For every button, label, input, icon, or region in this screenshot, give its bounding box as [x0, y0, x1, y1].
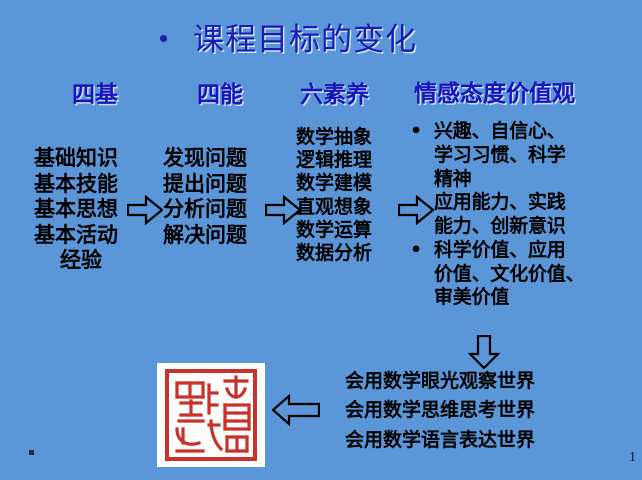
column-4-content: • 兴趣、自信心、 学习习惯、科学 精神 应用能力、实践 能力、创新意识 • 科… [410, 120, 636, 310]
conclusion-text: 会用数学眼光观察世界 会用数学思维思考世界 会用数学语言表达世界 [345, 367, 535, 455]
bullet-icon: • [410, 239, 434, 263]
corner-mark [29, 450, 34, 455]
list-item-line: 兴趣、自信心、 [434, 120, 566, 142]
list-item: 基本活动 [34, 223, 118, 249]
list-item: 数学建模 [296, 172, 372, 195]
list-item: 数据分析 [296, 242, 372, 265]
list-item-line: 应用能力、实践 [434, 191, 566, 213]
arrow-down-icon [468, 335, 500, 369]
column-header-2: 四能 [197, 75, 243, 109]
list-item-line: 精神 [434, 168, 472, 190]
list-item-text: 科学价值、应用 价值、文化价值、 审美价值 [434, 239, 636, 310]
column-header-1: 四基 [72, 75, 118, 109]
bullet-icon: • [410, 120, 434, 144]
list-item-line: 学习习惯、科学 [434, 144, 566, 166]
list-item: 发现问题 [163, 146, 247, 172]
list-item: 数学抽象 [296, 126, 372, 149]
column-3-content: 数学抽象 逻辑推理 数学建模 直观想象 数学运算 数据分析 [296, 126, 372, 265]
list-item-text: 兴趣、自信心、 学习习惯、科学 精神 [434, 120, 636, 191]
conclusion-line: 会用数学眼光观察世界 [345, 367, 535, 396]
list-item: • 科学价值、应用 价值、文化价值、 审美价值 [410, 239, 636, 310]
list-item-text: 应用能力、实践 能力、创新意识 [434, 191, 636, 239]
list-item: • 兴趣、自信心、 学习习惯、科学 精神 [410, 120, 636, 191]
slide-canvas: 课程目标的变化 四基 四能 六素养 情感态度价值观 基础知识 基本技能 基本思想… [0, 0, 642, 480]
arrow-right-icon [265, 195, 301, 225]
list-item-line: 科学价值、应用 [434, 239, 566, 261]
arrow-left-icon [272, 394, 320, 426]
list-item: 分析问题 [163, 197, 247, 223]
list-item-line: 价值、文化价值、 [434, 263, 584, 285]
list-item: 基本技能 [34, 172, 118, 198]
arrow-right-icon [127, 195, 163, 225]
conclusion-line: 会用数学思维思考世界 [345, 396, 535, 425]
list-item: 基础知识 [34, 146, 118, 172]
column-header-4: 情感态度价值观 [414, 74, 575, 108]
page-number: 1 [629, 450, 636, 466]
column-1-content: 基础知识 基本技能 基本思想 基本活动 经验 [34, 146, 118, 274]
conclusion-line: 会用数学语言表达世界 [345, 426, 535, 455]
arrow-right-icon [398, 195, 434, 225]
page-title: 课程目标的变化 [193, 14, 417, 59]
list-item: 应用能力、实践 能力、创新意识 [410, 191, 636, 239]
column-2-content: 发现问题 提出问题 分析问题 解决问题 [163, 146, 247, 248]
list-item: 逻辑推理 [296, 149, 372, 172]
slide-title: 课程目标的变化 [160, 14, 417, 59]
list-item: 基本思想 [34, 197, 118, 223]
seal-stamp-image [157, 363, 265, 467]
list-item: 数学运算 [296, 219, 372, 242]
list-item: 经验 [34, 248, 118, 274]
list-item-line: 审美价值 [434, 286, 509, 308]
list-item: 直观想象 [296, 196, 372, 219]
column-header-3: 六素养 [300, 75, 369, 109]
list-item-line: 能力、创新意识 [434, 215, 566, 237]
title-bullet-icon [160, 35, 167, 42]
list-item: 提出问题 [163, 172, 247, 198]
list-item: 解决问题 [163, 223, 247, 249]
